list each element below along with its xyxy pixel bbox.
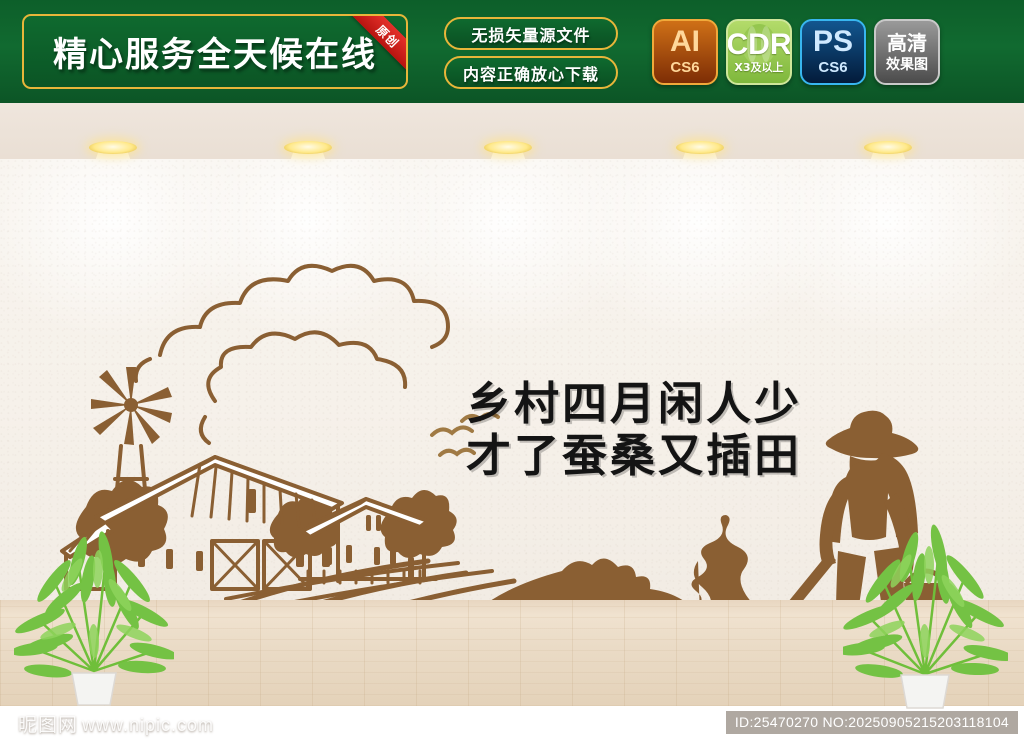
promo-pill-lossless-vector: 无损矢量源文件: [444, 17, 618, 50]
cloud-tail-1: [136, 359, 150, 381]
farmer-hat: [826, 411, 919, 458]
promo-title-box: 精心服务全天候在线 原创: [22, 14, 408, 89]
plant-right-foliage: [843, 523, 1008, 680]
plant-left-pot: [72, 673, 116, 705]
poem-calligraphy: 乡村四月闲人少 才了蚕桑又插田: [466, 380, 802, 479]
potted-plant-left: [14, 521, 174, 706]
format-badge-hd: 高清 效果图: [874, 19, 940, 85]
format-badge-hd-main: 高清: [887, 32, 927, 55]
site-watermark-cn: 昵图网: [18, 710, 78, 737]
format-badge-hd-sub: 效果图: [886, 57, 928, 73]
ceiling-light-icon-3: [484, 141, 532, 154]
ceiling-light-icon-5: [864, 141, 912, 154]
screenshot-root: 精心服务全天候在线 原创 无损矢量源文件 内容正确放心下载 AI CS6 CDR…: [0, 0, 1024, 749]
poem-line-1: 乡村四月闲人少: [466, 380, 802, 428]
ceiling-light-icon-1: [89, 141, 137, 154]
promo-pill-safe-download: 内容正确放心下载: [444, 56, 618, 89]
poem-line-2: 才了蚕桑又插田: [466, 432, 802, 480]
image-id-watermark: ID:25470270 NO:20250905215203118104: [726, 711, 1018, 734]
format-badge-ai-main: AI: [670, 27, 700, 57]
potted-plant-right: [843, 519, 1008, 709]
site-watermark: 昵图网 www.nipic.com: [18, 710, 214, 737]
cloud-tail-2: [201, 417, 209, 443]
promo-banner: 精心服务全天候在线 原创 无损矢量源文件 内容正确放心下载 AI CS6 CDR…: [0, 0, 1024, 103]
cloud-shape-2: [208, 332, 405, 401]
cloud-shape-1: [160, 266, 448, 355]
ceiling-light-icon-4: [676, 141, 724, 154]
promo-title: 精心服务全天候在线: [24, 16, 406, 87]
format-badge-ps: PS CS6: [800, 19, 866, 85]
format-badge-ai-sub: CS6: [670, 59, 699, 76]
ceiling-light-icon-2: [284, 141, 332, 154]
format-badge-cdr-main: CDR: [727, 30, 792, 60]
plant-right-pot: [901, 675, 949, 708]
format-badge-ps-main: PS: [813, 27, 853, 57]
windmill-blades: [91, 367, 172, 445]
format-badge-ai: AI CS6: [652, 19, 718, 85]
plant-left-foliage: [14, 530, 174, 679]
format-badge-cdr-sub: X3及以上: [734, 62, 783, 75]
barn-door-left-x: [212, 541, 258, 589]
ceiling: [0, 103, 1024, 165]
format-badge-ps-sub: CS6: [818, 59, 847, 76]
site-watermark-url: www.nipic.com: [82, 715, 214, 736]
hoe-handle: [766, 553, 836, 600]
format-badge-cdr: CDR X3及以上: [726, 19, 792, 85]
